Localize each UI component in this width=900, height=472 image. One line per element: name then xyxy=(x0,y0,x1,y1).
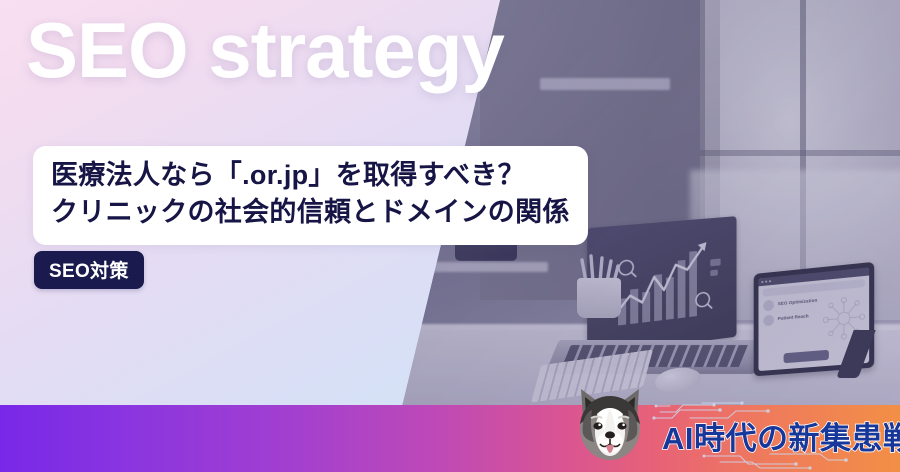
brand-logo-text: AI時代の新集患戦略 xyxy=(662,413,900,458)
title-line-1: 医療法人なら「.or.jp」を取得すべき？ xyxy=(51,157,570,194)
title-line-2: クリニックの社会的信頼とドメインの関係 xyxy=(51,194,570,231)
seo-strategy-banner: SEO Optimization Patient Reach xyxy=(0,0,900,472)
husky-mascot-avatar xyxy=(567,384,653,466)
title-card: 医療法人なら「.or.jp」を取得すべき？ クリニックの社会的信頼とドメインの関… xyxy=(33,146,588,245)
page-title: SEO strategy xyxy=(26,6,504,96)
status-badge: SEO対策 xyxy=(34,251,144,289)
